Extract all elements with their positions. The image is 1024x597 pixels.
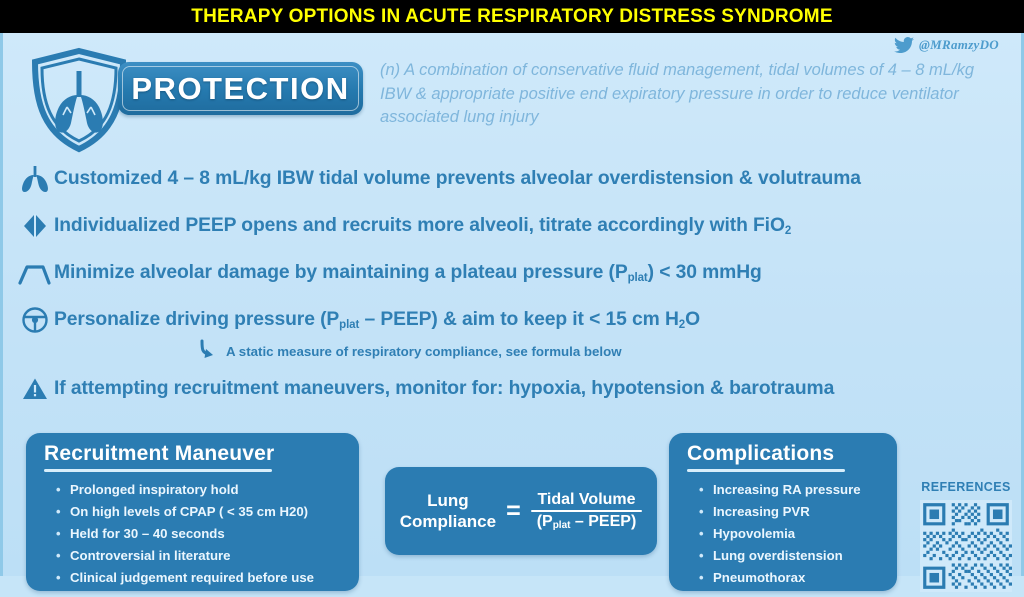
bullet-dot: • bbox=[56, 480, 70, 500]
formula-fraction: Tidal Volume (Pplat – PEEP) bbox=[531, 490, 643, 533]
twitter-credit: @MRamzyDO bbox=[894, 37, 999, 53]
complications-panel: Complications •Increasing RA pressure •I… bbox=[669, 433, 897, 591]
bullet-text: Customized 4 – 8 mL/kg IBW tidal volume … bbox=[54, 168, 861, 190]
warning-triangle-icon bbox=[16, 372, 54, 406]
page-title: THERAPY OPTIONS IN ACUTE RESPIRATORY DIS… bbox=[191, 6, 832, 28]
subnote-row: A static measure of respiratory complian… bbox=[3, 337, 1024, 365]
steering-wheel-icon bbox=[16, 303, 54, 337]
bullet-list: Customized 4 – 8 mL/kg IBW tidal volume … bbox=[3, 155, 1024, 412]
bullet-text: Individualized PEEP opens and recruits m… bbox=[54, 215, 791, 237]
definition-text: (n) A combination of conservative fluid … bbox=[380, 59, 975, 130]
list-item-label: Held for 30 – 40 seconds bbox=[70, 524, 225, 544]
list-item-label: Hypovolemia bbox=[713, 524, 795, 544]
list-item: •Increasing PVR bbox=[669, 501, 897, 523]
formula-lhs-line2: Compliance bbox=[400, 511, 496, 532]
list-item: •Clinical judgement required before use bbox=[26, 567, 359, 589]
list-item: •Increasing RA pressure bbox=[669, 479, 897, 501]
bullet-dot: • bbox=[56, 524, 70, 544]
infographic-canvas: PROTECTION (n) A combination of conserva… bbox=[0, 33, 1024, 576]
formula-numerator: Tidal Volume bbox=[531, 490, 641, 510]
shield-lungs-icon bbox=[27, 45, 131, 155]
qr-code-icon[interactable] bbox=[920, 500, 1012, 592]
recruitment-heading: Recruitment Maneuver bbox=[26, 433, 359, 469]
list-item-label: Pneumothorax bbox=[713, 568, 805, 588]
bullet-row: Individualized PEEP opens and recruits m… bbox=[3, 202, 1024, 249]
recruitment-maneuver-panel: Recruitment Maneuver •Prolonged inspirat… bbox=[26, 433, 359, 591]
subnote-text: A static measure of respiratory complian… bbox=[226, 344, 622, 359]
list-item: •Lung overdistension bbox=[669, 545, 897, 567]
complications-list: •Increasing RA pressure •Increasing PVR … bbox=[669, 479, 897, 589]
recruitment-list: •Prolonged inspiratory hold •On high lev… bbox=[26, 479, 359, 589]
list-item-label: Increasing PVR bbox=[713, 502, 810, 522]
plateau-waveform-icon bbox=[16, 256, 54, 290]
bullet-dot: • bbox=[699, 524, 713, 544]
equals-sign: = bbox=[506, 497, 521, 526]
list-item: •Controversial in literature bbox=[26, 545, 359, 567]
protection-badge: PROTECTION bbox=[118, 62, 363, 115]
list-item: •Hypovolemia bbox=[669, 523, 897, 545]
bullet-dot: • bbox=[56, 546, 70, 566]
list-item-label: On high levels of CPAP ( < 35 cm H20) bbox=[70, 502, 308, 522]
double-arrow-icon bbox=[16, 209, 54, 243]
list-item-label: Lung overdistension bbox=[713, 546, 843, 566]
list-item-label: Prolonged inspiratory hold bbox=[70, 480, 239, 500]
bullet-dot: • bbox=[699, 568, 713, 588]
list-item-label: Increasing RA pressure bbox=[713, 480, 861, 500]
list-item-label: Clinical judgement required before use bbox=[70, 568, 314, 588]
heading-underline bbox=[687, 469, 845, 472]
bullet-dot: • bbox=[699, 480, 713, 500]
curved-arrow-icon bbox=[188, 334, 226, 368]
list-item: •Prolonged inspiratory hold bbox=[26, 479, 359, 501]
list-item: •On high levels of CPAP ( < 35 cm H20) bbox=[26, 501, 359, 523]
references-label: REFERENCES bbox=[913, 480, 1019, 494]
bullet-dot: • bbox=[699, 502, 713, 522]
title-bar: THERAPY OPTIONS IN ACUTE RESPIRATORY DIS… bbox=[0, 0, 1024, 33]
formula-lhs-line1: Lung bbox=[400, 490, 496, 511]
heading-underline bbox=[44, 469, 272, 472]
bullet-text: Personalize driving pressure (Pplat – PE… bbox=[54, 309, 700, 331]
bullet-dot: • bbox=[699, 546, 713, 566]
bullet-text: If attempting recruitment maneuvers, mon… bbox=[54, 378, 834, 400]
references-block: REFERENCES bbox=[913, 480, 1019, 597]
list-item: •Held for 30 – 40 seconds bbox=[26, 523, 359, 545]
formula-expression: Lung Compliance = Tidal Volume (Pplat – … bbox=[388, 490, 655, 533]
list-item-label: Controversial in literature bbox=[70, 546, 231, 566]
formula-denominator: (Pplat – PEEP) bbox=[531, 512, 643, 532]
bullet-row: Personalize driving pressure (Pplat – PE… bbox=[3, 296, 1024, 343]
twitter-handle: @MRamzyDO bbox=[919, 37, 999, 53]
bullet-dot: • bbox=[56, 502, 70, 522]
bullet-row: If attempting recruitment maneuvers, mon… bbox=[3, 365, 1024, 412]
protection-badge-label: PROTECTION bbox=[118, 62, 363, 115]
bullet-row: Customized 4 – 8 mL/kg IBW tidal volume … bbox=[3, 155, 1024, 202]
bullet-dot: • bbox=[56, 568, 70, 588]
bullet-row: Minimize alveolar damage by maintaining … bbox=[3, 249, 1024, 296]
twitter-bird-icon bbox=[894, 37, 914, 53]
bullet-text: Minimize alveolar damage by maintaining … bbox=[54, 262, 762, 284]
lung-compliance-formula-panel: Lung Compliance = Tidal Volume (Pplat – … bbox=[385, 467, 657, 555]
lungs-icon bbox=[16, 162, 54, 196]
list-item: •Pneumothorax bbox=[669, 567, 897, 589]
formula-left-side: Lung Compliance bbox=[400, 490, 496, 532]
complications-heading: Complications bbox=[669, 433, 897, 469]
